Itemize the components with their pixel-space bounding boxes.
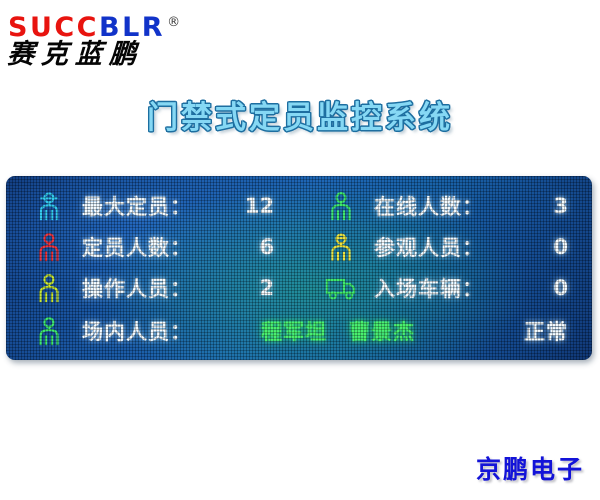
- table-row: 操作人员： 2 入场车辆： 0: [6, 268, 592, 309]
- brand-chinese-name: 赛克蓝鹏: [6, 39, 268, 71]
- stat-value: 0: [534, 235, 592, 259]
- table-row: 最大定员： 12 在线人数： 3: [6, 186, 592, 227]
- table-row: 定员人数： 6 参观人员： 0: [6, 227, 592, 268]
- stat-value: 6: [240, 235, 298, 259]
- stat-label: 最大定员：: [70, 191, 240, 221]
- stat-cell-online-count: 在线人数： 3: [298, 186, 592, 227]
- stat-cell-assigned-count: 定员人数： 6: [6, 227, 298, 268]
- onsite-name-list: 程军坦 曹景杰: [152, 316, 524, 346]
- footer-brand: 京鹏电子: [476, 450, 584, 486]
- visitor-person-icon: [320, 232, 362, 262]
- person-icon: [320, 191, 362, 221]
- person-with-cap-icon: [28, 191, 70, 221]
- led-display-panel: 最大定员： 12 在线人数： 3: [6, 176, 592, 360]
- stat-cell-vehicle-count: 入场车辆： 0: [298, 268, 592, 309]
- stat-cell-onsite-personnel: 场内人员： 程军坦 曹景杰 正常: [6, 316, 592, 346]
- truck-icon: [320, 275, 362, 301]
- person-icon: [28, 316, 70, 346]
- stat-value: 0: [534, 276, 592, 300]
- person-icon: [28, 273, 70, 303]
- stat-label: 定员人数：: [70, 232, 240, 262]
- stat-value: 12: [240, 194, 298, 218]
- person-icon: [28, 232, 70, 262]
- stat-label: 参观人员：: [362, 232, 534, 262]
- stat-value: 2: [240, 276, 298, 300]
- registered-trademark-icon: ®: [167, 15, 180, 30]
- stat-label: 入场车辆：: [362, 273, 534, 303]
- stat-value: 3: [534, 194, 592, 218]
- page-title: 门禁式定员监控系统: [0, 92, 600, 137]
- list-item: 程军坦: [261, 316, 327, 346]
- status-badge: 正常: [524, 316, 592, 346]
- brand-wordmark: SUCCBLR®: [8, 8, 268, 38]
- led-rows-container: 最大定员： 12 在线人数： 3: [6, 176, 592, 360]
- list-item: 曹景杰: [349, 316, 415, 346]
- stat-label: 在线人数：: [362, 191, 534, 221]
- stat-cell-visitor-count: 参观人员： 0: [298, 227, 592, 268]
- stat-cell-operator-count: 操作人员： 2: [6, 268, 298, 309]
- stat-cell-max-capacity: 最大定员： 12: [6, 186, 298, 227]
- stat-label: 操作人员：: [70, 273, 240, 303]
- brand-logo: SUCCBLR® 赛克蓝鹏: [8, 8, 268, 72]
- table-row: 场内人员： 程军坦 曹景杰 正常: [6, 309, 592, 353]
